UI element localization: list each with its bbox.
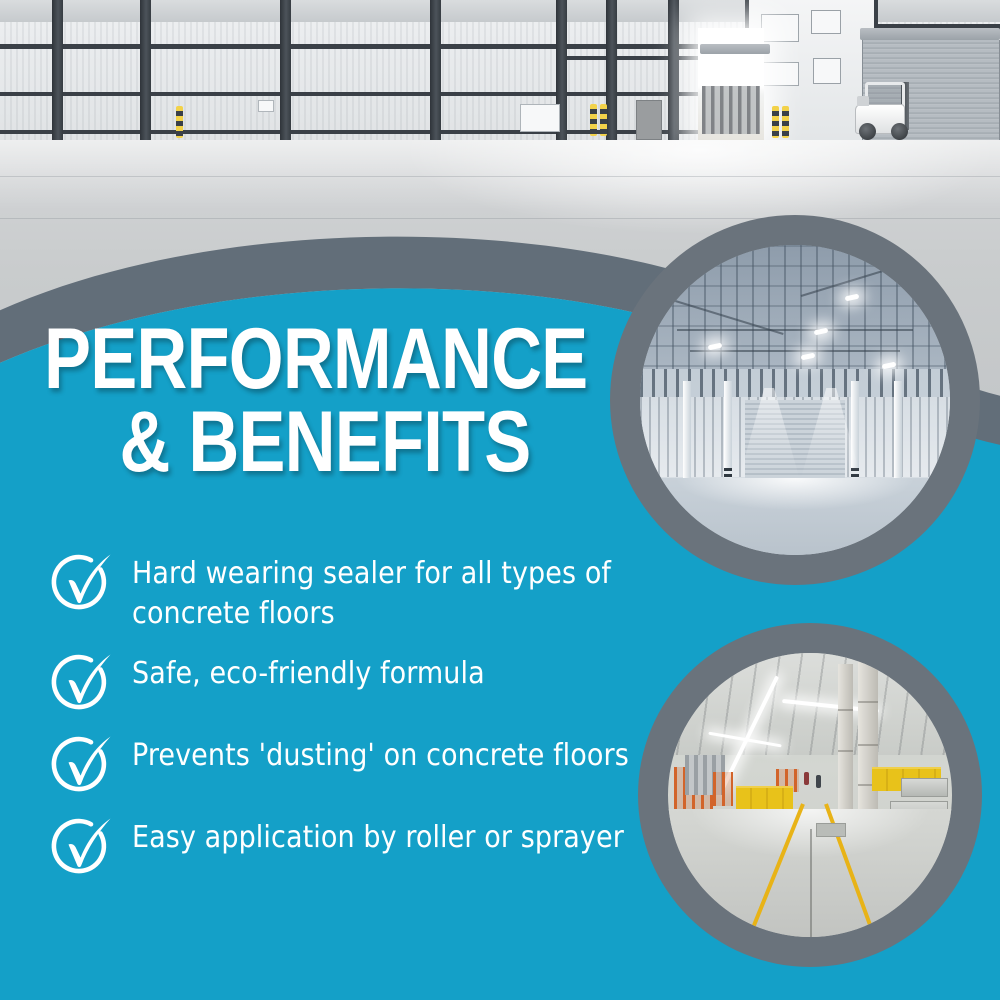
pillar-band [858, 744, 878, 746]
check-circle-icon [44, 732, 118, 800]
page-title: PERFORMANCE & BENEFITS [44, 318, 604, 483]
orange-machine [713, 772, 733, 806]
list-item-label: Easy application by roller or sprayer [132, 812, 624, 858]
floor-joint [810, 829, 812, 937]
column [724, 381, 732, 480]
pillar-band [838, 750, 852, 752]
list-item: Prevents 'dusting' on concrete floors [44, 730, 704, 798]
circle-photo-scene [668, 653, 952, 937]
circle-photo-scene [640, 245, 950, 555]
benefits-list: Hard wearing sealer for all types of con… [44, 548, 704, 894]
list-item-label: Hard wearing sealer for all types of con… [132, 548, 704, 634]
column [894, 381, 902, 480]
reflective-floor [640, 478, 950, 556]
column [683, 381, 691, 480]
worker [804, 772, 809, 785]
empty-warehouse-circle-photo [640, 245, 950, 555]
check-circle-icon [44, 550, 118, 618]
roof-truss [677, 329, 913, 331]
check-circle-icon [44, 650, 118, 718]
list-item: Safe, eco-friendly formula [44, 648, 704, 716]
worker [816, 775, 821, 788]
factory-aisle-circle-photo [668, 653, 952, 937]
list-item-label: Prevents 'dusting' on concrete floors [132, 730, 629, 776]
pillar [858, 659, 878, 824]
list-item: Hard wearing sealer for all types of con… [44, 548, 704, 634]
check-circle-icon [44, 814, 118, 882]
list-item: Easy application by roller or sprayer [44, 812, 704, 880]
poster-canvas: PERFORMANCE & BENEFITS Hard wearing seal… [0, 0, 1000, 1000]
pillar [838, 664, 852, 812]
list-item-label: Safe, eco-friendly formula [132, 648, 485, 694]
title-line-1: PERFORMANCE [44, 318, 503, 401]
roof-truss [690, 350, 901, 352]
work-bench [901, 778, 948, 797]
pillar-band [838, 709, 852, 711]
floor-hatch [816, 823, 846, 836]
title-line-2: & BENEFITS [44, 401, 503, 484]
pillar-band [858, 701, 878, 703]
